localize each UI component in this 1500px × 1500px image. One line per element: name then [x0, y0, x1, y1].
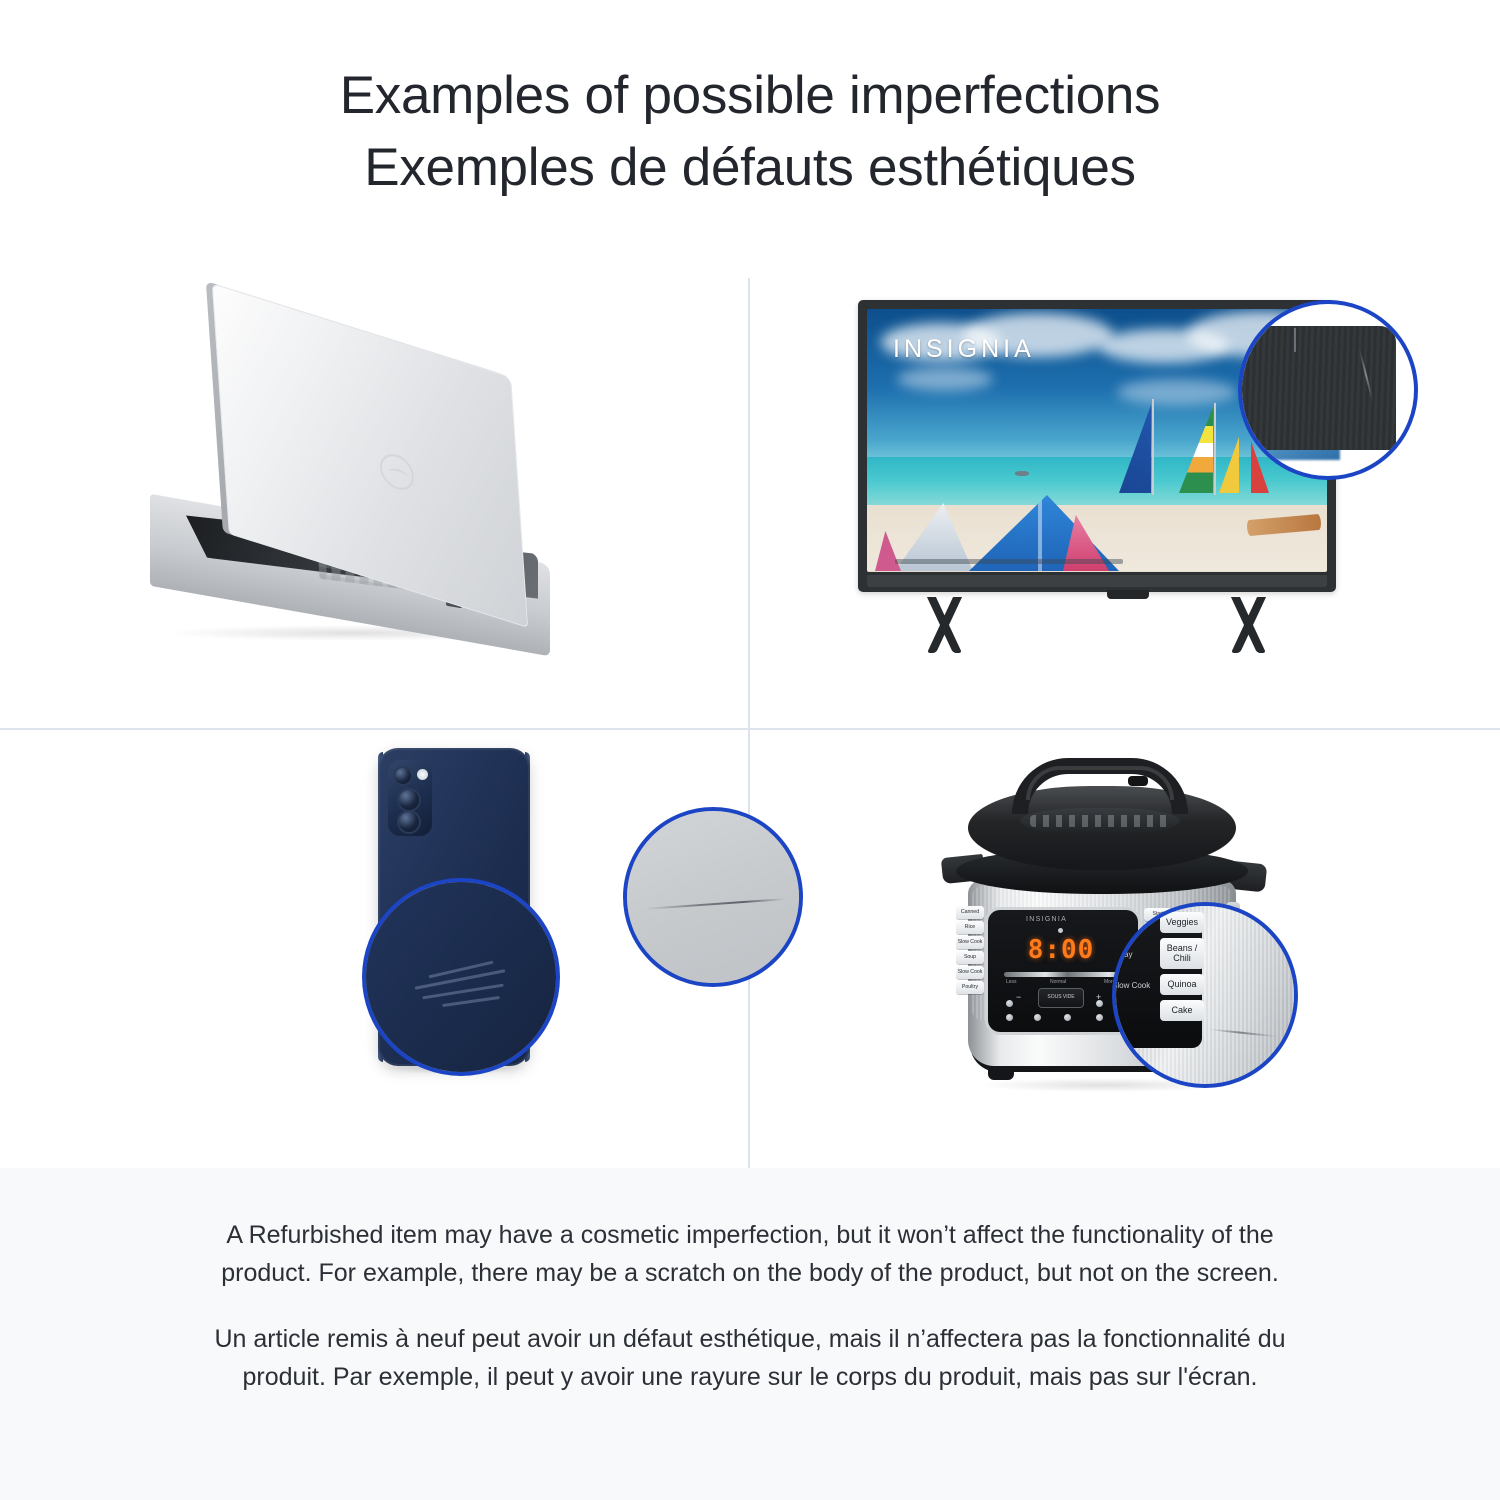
decrease-button[interactable]: −	[1016, 992, 1021, 1002]
tv-leg-right	[1210, 597, 1290, 653]
tv-screen-brand-logo: INSIGNIA	[893, 335, 1035, 364]
cooker-lid-handle-highlight	[1026, 766, 1174, 800]
tv-bezel-corner-zoom	[1238, 326, 1396, 450]
cooker-zoom-label: Slow Cook	[1112, 981, 1156, 990]
cooker-time-display: 8:00	[1024, 936, 1098, 964]
magnifier-circle-television	[1238, 300, 1418, 480]
magnifier-circle-smartphone	[362, 878, 560, 1076]
title-english: Examples of possible imperfections	[0, 60, 1500, 132]
sailboat-mast	[1214, 403, 1216, 495]
slider-label-normal: Normal	[1050, 979, 1066, 985]
smartphone-illustration	[318, 748, 618, 1128]
cooker-pressure-slider[interactable]	[1004, 972, 1126, 977]
sailboat-mast	[1152, 399, 1154, 495]
cooker-button[interactable]: Poultry	[956, 981, 984, 994]
cooker-button[interactable]: Slow Cook	[956, 966, 984, 979]
camera-module	[388, 760, 432, 836]
cooker-zoom-button[interactable]: Cake	[1160, 1000, 1204, 1021]
slider-label-less: Less	[1006, 979, 1017, 985]
cooker-status-led	[1058, 928, 1063, 933]
cooker-keypad-button[interactable]	[1096, 1000, 1103, 1007]
product-grid: INSIGNIA	[0, 278, 1500, 1168]
cooker-button[interactable]: Soup	[956, 951, 984, 964]
cooker-brand-logo: INSIGNIA	[1026, 916, 1067, 923]
laptop-lid-surface-zoom	[627, 811, 799, 983]
cooker-foot	[988, 1068, 1014, 1080]
cooker-zoom-button-column: Veggies Beans / Chili Quinoa Cake	[1160, 912, 1204, 1021]
magnifier-circle-laptop	[623, 807, 803, 987]
grid-cell-television: INSIGNIA	[750, 278, 1500, 728]
pressure-cooker-illustration: INSIGNIA 8:00 Less Normal More − SOUS VI…	[950, 752, 1310, 1122]
tv-power-button[interactable]	[1107, 590, 1149, 599]
grid-cell-laptop	[0, 278, 748, 728]
television-illustration: INSIGNIA	[858, 300, 1398, 660]
page-title: Examples of possible imperfections Exemp…	[0, 60, 1500, 204]
cooker-keypad-button[interactable]	[1034, 1014, 1041, 1021]
tv-bottom-bezel	[867, 575, 1327, 587]
footer-disclaimer: A Refurbished item may have a cosmetic i…	[0, 1168, 1500, 1500]
imperfections-infographic: Examples of possible imperfections Exemp…	[0, 0, 1500, 1500]
cooker-button[interactable]: Canned	[956, 906, 984, 919]
camera-lens-icon	[393, 766, 413, 786]
title-french: Exemples de défauts esthétiques	[0, 132, 1500, 204]
cooker-mode-button[interactable]: SOUS VIDE	[1038, 988, 1084, 1008]
magnifier-circle-pressure-cooker: Delay Slow Cook Veggies Beans / Chili Qu…	[1112, 902, 1298, 1088]
grid-cell-pressure-cooker: INSIGNIA 8:00 Less Normal More − SOUS VI…	[750, 730, 1500, 1168]
cooker-zoom-button[interactable]: Beans / Chili	[1160, 938, 1204, 969]
cooker-zoom-label: Delay	[1112, 950, 1156, 959]
cooker-button[interactable]: Slow Cook	[956, 936, 984, 949]
cloud-shape	[897, 367, 993, 391]
cooker-button[interactable]: Rice	[956, 921, 984, 934]
cooker-zoom-left-labels: Delay Slow Cook	[1112, 950, 1156, 990]
laptop-illustration	[150, 333, 630, 663]
cooker-keypad-button[interactable]	[1064, 1014, 1071, 1021]
camera-lens-icon	[397, 788, 421, 812]
cooker-mode-button-label: SOUS VIDE	[1039, 994, 1083, 1000]
cooker-keypad-button[interactable]	[1096, 1014, 1103, 1021]
distant-boat-shape	[1015, 471, 1029, 476]
camera-flash-icon	[417, 769, 428, 780]
cooker-keypad-button[interactable]	[1006, 1014, 1013, 1021]
cooker-zoom-button[interactable]: Veggies	[1160, 912, 1204, 933]
cloud-shape	[1117, 379, 1237, 405]
cooker-keypad-button[interactable]	[1006, 1000, 1013, 1007]
tv-leg-left	[906, 597, 986, 653]
foreground-boom-shape	[895, 559, 1123, 564]
cooker-left-button-column: Canned Rice Slow Cook Soup Slow Cook Pou…	[956, 906, 984, 994]
disclaimer-english: A Refurbished item may have a cosmetic i…	[180, 1216, 1320, 1292]
cooker-zoom-button[interactable]: Quinoa	[1160, 974, 1204, 995]
disclaimer-french: Un article remis à neuf peut avoir un dé…	[180, 1320, 1320, 1396]
sailboat-blue-sail	[1119, 405, 1151, 493]
camera-lens-icon	[397, 810, 421, 834]
bezel-seam-line	[1294, 328, 1296, 352]
